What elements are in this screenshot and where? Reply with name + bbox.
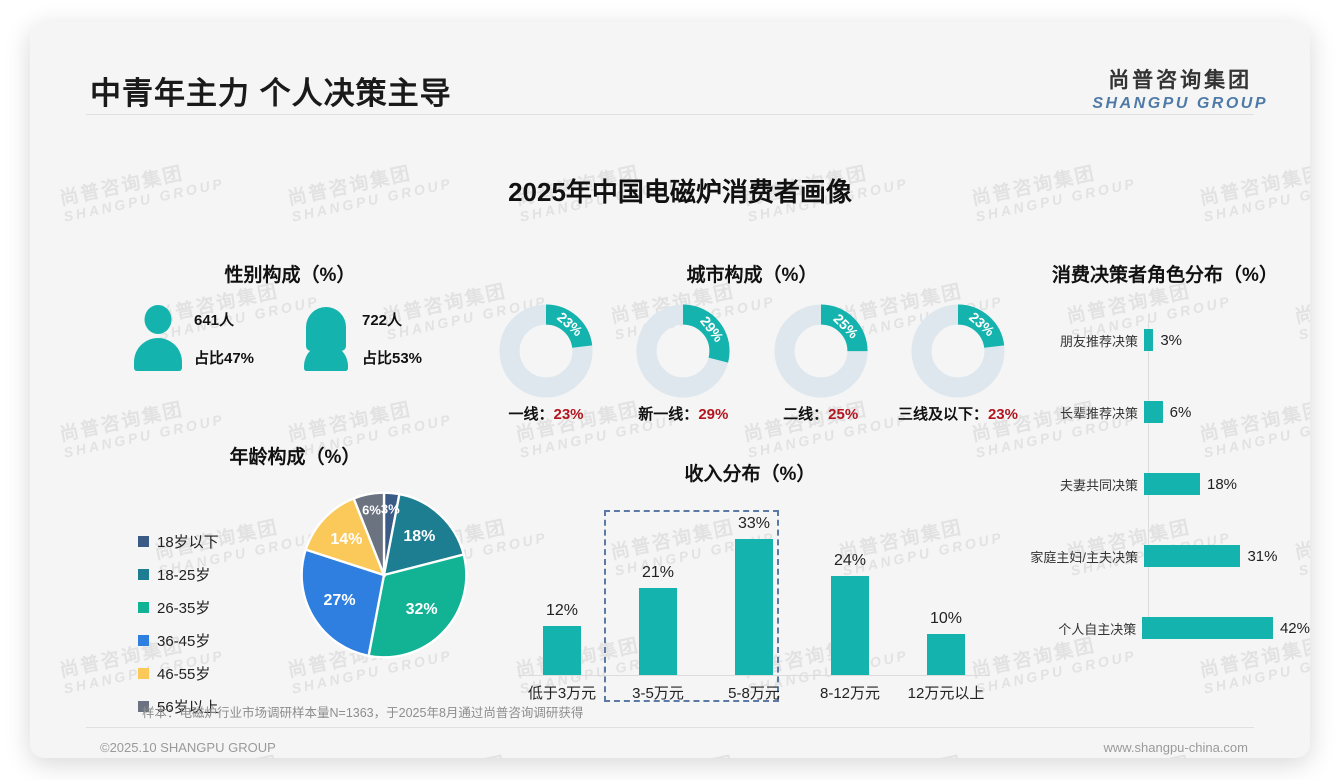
income-bar-value: 24%: [834, 552, 866, 570]
male-person-icon: [134, 305, 182, 371]
footer-divider: [86, 727, 1254, 728]
age-pie-svg: [300, 491, 468, 659]
donut-caption-name: 三线及以下：: [898, 406, 988, 423]
donut-chart: 29%: [635, 303, 731, 399]
income-bar-column: 21%: [610, 510, 706, 675]
donut-caption: 新一线：29%: [619, 403, 747, 424]
role-bar: [1144, 473, 1200, 495]
income-bar-value: 33%: [738, 515, 770, 533]
legend-color-swatch: [138, 635, 149, 646]
watermark: 尚普咨询集团SHANGPU GROUP: [837, 745, 1005, 758]
watermark: 尚普咨询集团SHANGPU GROUP: [381, 745, 549, 758]
income-category-label: 3-5万元: [610, 682, 706, 703]
watermark: 尚普咨询集团SHANGPU GROUP: [609, 745, 777, 758]
income-bar-value: 21%: [642, 564, 674, 582]
role-row: 夫妻共同决策18%: [1020, 471, 1310, 497]
gender-male-share: 占比47%: [194, 347, 254, 368]
donut-chart: 23%: [498, 303, 594, 399]
header: 中青年主力 个人决策主导 尚普咨询集团 SHANGPU GROUP: [30, 22, 1310, 114]
role-value: 42%: [1280, 620, 1310, 637]
legend-label: 18岁以下: [157, 531, 219, 552]
age-panel-title: 年龄构成（%）: [110, 442, 480, 469]
age-pie-chart: 3%18%32%27%14%6%: [300, 491, 468, 659]
pie-slice-label: 18%: [403, 528, 435, 546]
city-donut-item: 23%一线：23%: [482, 303, 610, 424]
income-panel: 收入分布（%） 12%21%33%24%10% 低于3万元3-5万元5-8万元8…: [500, 459, 1000, 715]
website-url: www.shangpu-china.com: [1103, 740, 1248, 755]
donut-caption-value: 29%: [698, 406, 728, 423]
pie-slice-label: 6%: [362, 502, 381, 517]
role-value: 6%: [1170, 404, 1192, 421]
role-bar: [1144, 545, 1240, 567]
legend-label: 26-35岁: [157, 597, 210, 618]
income-panel-title: 收入分布（%）: [500, 459, 1000, 486]
income-bar-column: 33%: [706, 510, 802, 675]
role-value: 31%: [1247, 548, 1277, 565]
role-row: 家庭主妇/主夫决策31%: [1020, 543, 1310, 569]
gender-female-share: 占比53%: [362, 347, 422, 368]
logo-english-text: SHANGPU GROUP: [1092, 95, 1268, 113]
pie-slice-label: 3%: [381, 501, 400, 516]
decision-roles-title: 消费决策者角色分布（%）: [1020, 260, 1310, 287]
legend-label: 36-45岁: [157, 630, 210, 651]
donut-caption: 一线：23%: [482, 403, 610, 424]
age-legend-item: 36-45岁: [138, 630, 219, 651]
legend-color-swatch: [138, 668, 149, 679]
legend-color-swatch: [138, 536, 149, 547]
income-bar: [639, 588, 677, 675]
income-chart: 12%21%33%24%10% 低于3万元3-5万元5-8万元8-12万元12万…: [500, 500, 1000, 715]
pie-slice-label: 14%: [330, 531, 362, 549]
donut-chart: 23%: [910, 303, 1006, 399]
income-category-label: 12万元以上: [898, 682, 994, 703]
donut-caption: 三线及以下：23%: [894, 403, 1022, 424]
gender-female-text: 722人 占比53%: [362, 309, 422, 368]
income-category-labels: 低于3万元3-5万元5-8万元8-12万元12万元以上: [514, 682, 994, 703]
pie-slice-label: 32%: [406, 601, 438, 619]
legend-color-swatch: [138, 602, 149, 613]
gender-items: 641人 占比47% 722人 占比53%: [110, 305, 470, 371]
income-category-label: 5-8万元: [706, 682, 802, 703]
income-bar-value: 12%: [546, 602, 578, 620]
role-label: 个人自主决策: [1020, 619, 1142, 638]
gender-male-text: 641人 占比47%: [194, 309, 254, 368]
gender-panel: 性别构成（%） 641人 占比47% 722人 占比53%: [110, 260, 470, 371]
header-divider: [86, 114, 1254, 115]
age-legend-item: 26-35岁: [138, 597, 219, 618]
legend-label: 18-25岁: [157, 564, 210, 585]
age-legend-item: 18-25岁: [138, 564, 219, 585]
gender-female-count: 722人: [362, 309, 422, 330]
legend-color-swatch: [138, 569, 149, 580]
gender-panel-title: 性别构成（%）: [110, 260, 470, 287]
donut-caption-name: 二线：: [783, 406, 828, 423]
role-label: 朋友推荐决策: [1020, 331, 1144, 350]
income-bar-column: 24%: [802, 510, 898, 675]
main-chart-title: 2025年中国电磁炉消费者画像: [30, 172, 1310, 209]
role-row: 朋友推荐决策3%: [1020, 327, 1310, 353]
role-value: 18%: [1207, 476, 1237, 493]
infographic-card: 尚普咨询集团SHANGPU GROUP尚普咨询集团SHANGPU GROUP尚普…: [30, 22, 1310, 758]
role-bar: [1142, 617, 1273, 639]
decision-roles-chart: 朋友推荐决策3%长辈推荐决策6%夫妻共同决策18%家庭主妇/主夫决策31%个人自…: [1020, 309, 1310, 639]
income-bar-value: 10%: [930, 610, 962, 628]
income-bar: [735, 539, 773, 675]
role-bar: [1144, 329, 1153, 351]
income-bar-column: 10%: [898, 510, 994, 675]
income-bars: 12%21%33%24%10%: [514, 510, 994, 675]
donut-caption-value: 23%: [988, 406, 1018, 423]
age-legend-item: 18岁以下: [138, 531, 219, 552]
role-value: 3%: [1160, 332, 1182, 349]
gender-item-female: 722人 占比53%: [302, 305, 470, 371]
female-person-icon: [302, 305, 350, 371]
city-donut-group: 23%一线：23%29%新一线：29%25%二线：25%23%三线及以下：23%: [482, 303, 1022, 424]
gender-item-male: 641人 占比47%: [134, 305, 302, 371]
role-row: 长辈推荐决策6%: [1020, 399, 1310, 425]
age-legend: 18岁以下18-25岁26-35岁36-45岁46-55岁56岁以上: [138, 531, 219, 729]
city-donut-item: 25%二线：25%: [757, 303, 885, 424]
watermark: 尚普咨询集团SHANGPU GROUP: [1293, 745, 1310, 758]
age-panel: 年龄构成（%） 18岁以下18-25岁26-35岁36-45岁46-55岁56岁…: [110, 442, 480, 678]
logo-chinese-text: 尚普咨询集团: [1092, 64, 1268, 94]
decision-roles-panel: 消费决策者角色分布（%） 朋友推荐决策3%长辈推荐决策6%夫妻共同决策18%家庭…: [1020, 260, 1310, 639]
city-donut-item: 29%新一线：29%: [619, 303, 747, 424]
page-title: 中青年主力 个人决策主导: [90, 68, 452, 113]
role-bar: [1144, 401, 1163, 423]
copyright-text: ©2025.10 SHANGPU GROUP: [100, 740, 276, 755]
pie-slice-label: 27%: [324, 592, 356, 610]
donut-caption-value: 23%: [553, 406, 583, 423]
donut-caption-value: 25%: [828, 406, 858, 423]
gender-male-count: 641人: [194, 309, 254, 330]
legend-label: 46-55岁: [157, 663, 210, 684]
income-category-label: 8-12万元: [802, 682, 898, 703]
income-category-label: 低于3万元: [514, 682, 610, 703]
role-label: 夫妻共同决策: [1020, 475, 1144, 494]
income-bar: [831, 576, 869, 675]
income-bar: [543, 626, 581, 676]
city-donut-item: 23%三线及以下：23%: [894, 303, 1022, 424]
donut-caption-name: 新一线：: [638, 406, 698, 423]
role-label: 长辈推荐决策: [1020, 403, 1144, 422]
income-bar-column: 12%: [514, 510, 610, 675]
role-label: 家庭主妇/主夫决策: [1020, 547, 1144, 566]
sample-note: 样本：电磁炉行业市场调研样本量N=1363，于2025年8月通过尚普咨询调研获得: [142, 702, 583, 721]
donut-chart: 25%: [773, 303, 869, 399]
age-legend-item: 46-55岁: [138, 663, 219, 684]
income-axis-line: [518, 675, 990, 676]
donut-caption: 二线：25%: [757, 403, 885, 424]
brand-logo: 尚普咨询集团 SHANGPU GROUP: [1092, 64, 1268, 113]
age-chart: 18岁以下18-25岁26-35岁36-45岁46-55岁56岁以上 3%18%…: [110, 483, 480, 678]
role-row: 个人自主决策42%: [1020, 615, 1310, 641]
city-panel: 城市构成（%） 23%一线：23%29%新一线：29%25%二线：25%23%三…: [482, 260, 1022, 424]
donut-caption-name: 一线：: [508, 406, 553, 423]
city-panel-title: 城市构成（%）: [482, 260, 1022, 287]
income-bar: [927, 634, 965, 675]
